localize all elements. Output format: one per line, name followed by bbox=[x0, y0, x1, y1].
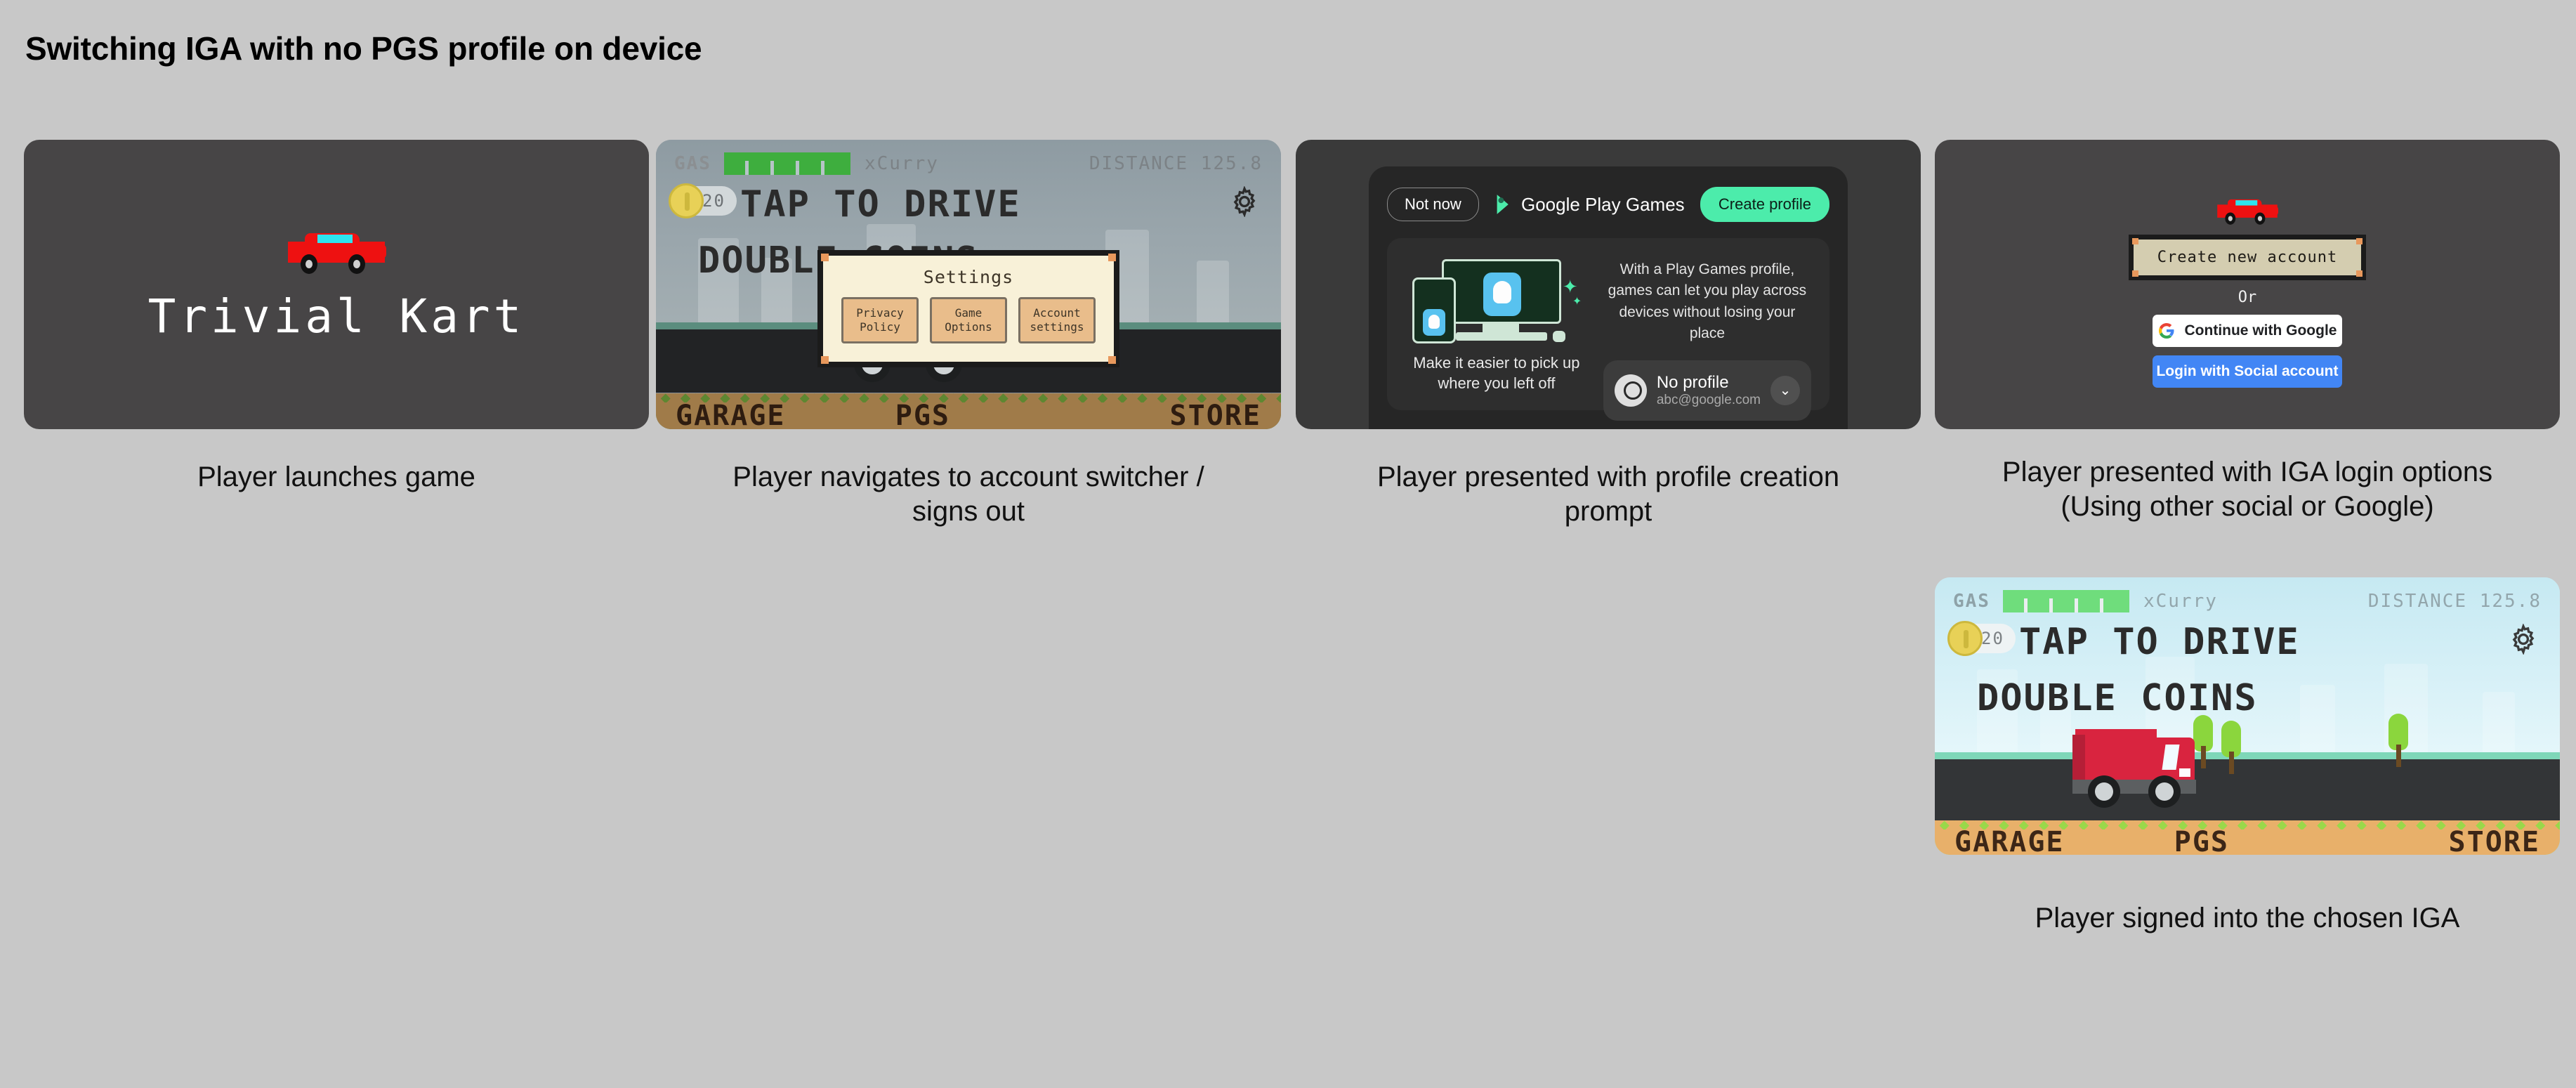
tap-to-drive-label: TAP TO DRIVE bbox=[740, 183, 1021, 225]
caption-panel-2-line1: Player navigates to account switcher / bbox=[656, 460, 1281, 494]
pgs-body: ✦ ✦ Make it easier to pick up where you … bbox=[1387, 238, 1829, 410]
pgs-sheet: Not now Google Play Games Create profile bbox=[1369, 166, 1848, 429]
pgs-brand: Google Play Games bbox=[1494, 194, 1685, 216]
pgs-description: With a Play Games profile, games can let… bbox=[1603, 259, 1811, 345]
continue-with-google-label: Continue with Google bbox=[2185, 322, 2337, 339]
account-avatar-icon bbox=[1615, 374, 1647, 407]
pgs-brand-label: Google Play Games bbox=[1521, 194, 1685, 216]
caption-panel-3: Player presented with profile creation p… bbox=[1296, 460, 1921, 529]
nav-pgs[interactable]: PGS bbox=[2174, 826, 2229, 855]
pgs-info-block: With a Play Games profile, games can let… bbox=[1603, 259, 1811, 421]
coin-count: 20 bbox=[702, 191, 725, 211]
caption-panel-3-line2: prompt bbox=[1296, 494, 1921, 529]
coin-count: 20 bbox=[1981, 629, 2004, 648]
gear-icon[interactable] bbox=[2508, 624, 2539, 655]
nav-store[interactable]: STORE bbox=[2449, 826, 2540, 855]
google-g-icon bbox=[2158, 322, 2175, 339]
pgs-illustration-caption: Make it easier to pick up where you left… bbox=[1405, 353, 1588, 393]
play-games-logo-icon bbox=[1494, 194, 1514, 215]
privacy-policy-button[interactable]: Privacy Policy bbox=[841, 297, 919, 343]
hud-top-row: GAS xCurry DISTANCE 125.8 bbox=[656, 140, 1281, 175]
phone-icon bbox=[1412, 277, 1456, 343]
distance-readout: DISTANCE 125.8 bbox=[1089, 153, 1263, 174]
gear-icon[interactable] bbox=[1229, 186, 1260, 217]
nav-pgs[interactable]: PGS bbox=[895, 400, 950, 429]
coin-icon bbox=[669, 183, 704, 218]
truck-sprite bbox=[2072, 729, 2206, 809]
panel-signed-in-game: GAS xCurry DISTANCE 125.8 20 TAP TO DRIV… bbox=[1935, 577, 2560, 855]
panel-iga-login-options: Create new account Or Continue with Goog… bbox=[1935, 140, 2560, 429]
game-scene-dimmed: GAS xCurry DISTANCE 125.8 20 TAP TO DRIV… bbox=[656, 140, 1281, 429]
coin-icon bbox=[1947, 621, 1983, 656]
not-now-button[interactable]: Not now bbox=[1387, 188, 1479, 221]
page-title: Switching IGA with no PGS profile on dev… bbox=[25, 30, 702, 67]
create-new-account-button[interactable]: Create new account bbox=[2129, 235, 2366, 280]
gas-label: GAS bbox=[674, 153, 711, 174]
panel-profile-creation-prompt: Not now Google Play Games Create profile bbox=[1296, 140, 1921, 429]
profile-name: No profile bbox=[1657, 373, 1761, 393]
hud-top-row: GAS xCurry DISTANCE 125.8 bbox=[1935, 577, 2560, 612]
sparkle-small-icon: ✦ bbox=[1572, 294, 1582, 308]
profile-email: abc@google.com bbox=[1657, 393, 1761, 408]
cross-device-illustration: ✦ ✦ bbox=[1412, 259, 1581, 343]
continue-with-google-button[interactable]: Continue with Google bbox=[2153, 315, 2342, 347]
settings-dialog: Settings Privacy Policy Game Options Acc… bbox=[817, 250, 1119, 367]
panel-splash-screen: Trivial Kart bbox=[24, 140, 649, 429]
caption-panel-2-line2: signs out bbox=[656, 494, 1281, 529]
game-title: Trivial Kart bbox=[148, 289, 525, 343]
caption-panel-2: Player navigates to account switcher / s… bbox=[656, 460, 1281, 529]
pgs-header: Not now Google Play Games Create profile bbox=[1387, 182, 1829, 227]
nav-store[interactable]: STORE bbox=[1170, 400, 1261, 429]
kart-name: xCurry bbox=[865, 153, 939, 174]
caption-panel-1: Player launches game bbox=[24, 460, 649, 494]
game-options-button[interactable]: Game Options bbox=[930, 297, 1007, 343]
or-divider-label: Or bbox=[2238, 289, 2257, 306]
double-coins-label: DOUBLE COINS bbox=[1977, 677, 2258, 719]
coin-counter: 20 bbox=[673, 186, 737, 216]
gas-bar bbox=[724, 152, 850, 175]
kart-name: xCurry bbox=[2143, 591, 2218, 612]
slide-canvas: Switching IGA with no PGS profile on dev… bbox=[0, 0, 2576, 1088]
nav-garage[interactable]: GARAGE bbox=[1954, 826, 2065, 855]
gas-bar bbox=[2003, 590, 2129, 612]
caption-panel-4: Player presented with IGA login options … bbox=[1935, 455, 2560, 524]
create-new-account-label: Create new account bbox=[2157, 249, 2337, 266]
login-with-social-label: Login with Social account bbox=[2156, 363, 2338, 380]
create-profile-button[interactable]: Create profile bbox=[1700, 187, 1829, 222]
pixel-car-icon bbox=[284, 226, 389, 277]
chevron-down-icon[interactable]: ⌄ bbox=[1770, 376, 1800, 405]
horizon-line bbox=[1935, 752, 2560, 759]
monitor-icon bbox=[1442, 259, 1561, 324]
caption-panel-4-line2: (Using other social or Google) bbox=[1935, 490, 2560, 524]
settings-dialog-title: Settings bbox=[823, 256, 1114, 291]
bottom-nav: GARAGE PGS STORE bbox=[1935, 830, 2560, 855]
panel-account-switcher: GAS xCurry DISTANCE 125.8 20 TAP TO DRIV… bbox=[656, 140, 1281, 429]
game-scene: GAS xCurry DISTANCE 125.8 20 TAP TO DRIV… bbox=[1935, 577, 2560, 855]
caption-panel-3-line1: Player presented with profile creation bbox=[1296, 460, 1921, 494]
gas-label: GAS bbox=[1953, 591, 1990, 612]
bottom-nav: GARAGE PGS STORE bbox=[656, 402, 1281, 429]
account-settings-button[interactable]: Account settings bbox=[1018, 297, 1096, 343]
distance-readout: DISTANCE 125.8 bbox=[2368, 591, 2542, 612]
profile-selector-row[interactable]: No profile abc@google.com ⌄ bbox=[1603, 360, 1811, 421]
pgs-illustration-block: ✦ ✦ Make it easier to pick up where you … bbox=[1405, 259, 1588, 393]
coin-counter: 20 bbox=[1952, 624, 2016, 653]
road bbox=[1935, 759, 2560, 820]
caption-panel-4-line1: Player presented with IGA login options bbox=[1935, 455, 2560, 490]
tap-to-drive-label: TAP TO DRIVE bbox=[2019, 621, 2300, 663]
nav-garage[interactable]: GARAGE bbox=[676, 400, 786, 429]
login-with-social-button[interactable]: Login with Social account bbox=[2153, 355, 2342, 388]
caption-panel-5: Player signed into the chosen IGA bbox=[1935, 901, 2560, 936]
pixel-car-icon bbox=[2215, 195, 2280, 227]
